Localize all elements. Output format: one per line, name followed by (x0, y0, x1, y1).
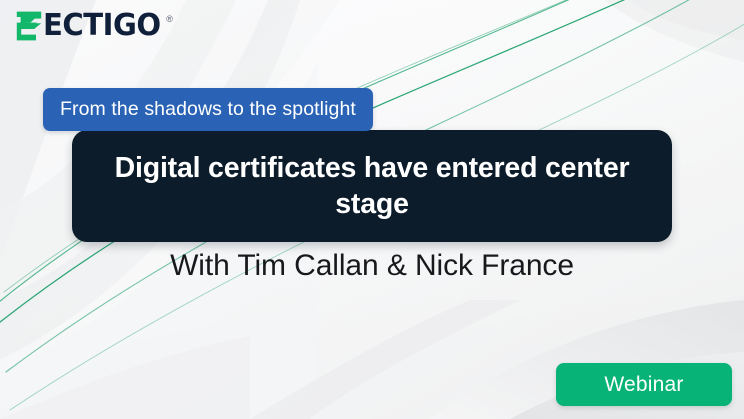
registered-trademark-icon: ® (166, 15, 173, 24)
eyebrow-text: From the shadows to the spotlight (60, 98, 356, 121)
webinar-badge-label: Webinar (604, 373, 683, 397)
title-card: Digital certificates have entered center… (72, 130, 672, 242)
eyebrow-badge: From the shadows to the spotlight (43, 88, 373, 131)
presenters-line: With Tim Callan & Nick France (0, 249, 744, 283)
page-title: Digital certificates have entered center… (72, 150, 672, 223)
sectigo-wordmark: ECTIGO (43, 11, 161, 41)
webinar-badge: Webinar (556, 363, 732, 406)
sectigo-logo: ECTIGO ® (16, 11, 173, 43)
sectigo-s-mark-icon (16, 11, 42, 41)
webinar-promo-slide: ECTIGO ® From the shadows to the spotlig… (0, 0, 744, 419)
presenters-text: With Tim Callan & Nick France (170, 249, 574, 282)
